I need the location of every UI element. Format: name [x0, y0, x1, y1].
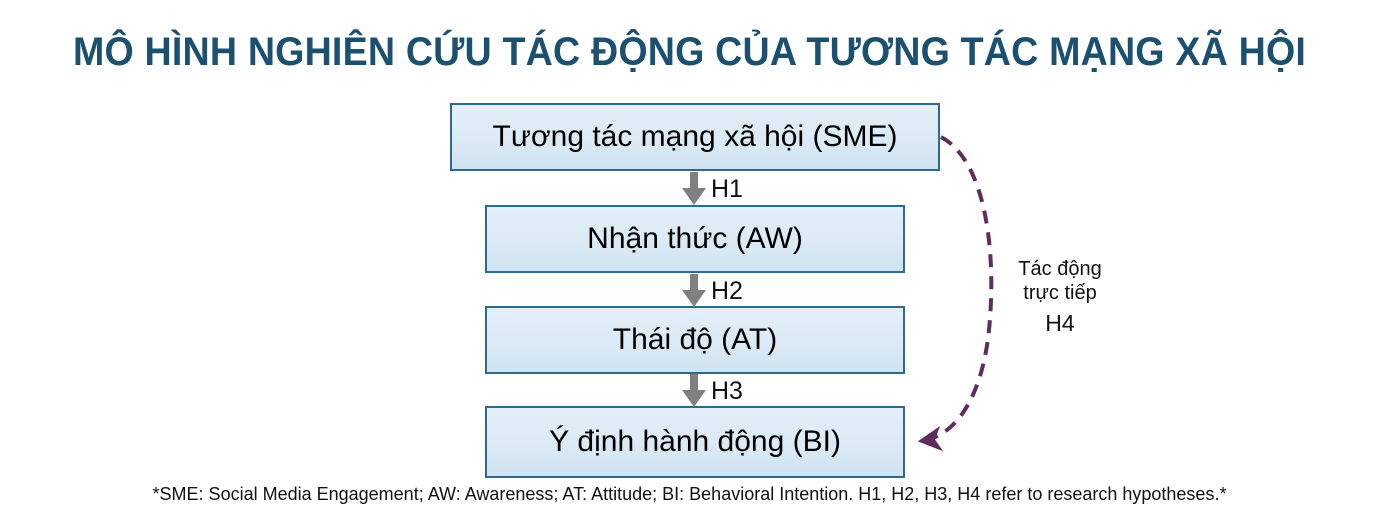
hypothesis-label-h1: H1	[711, 175, 743, 204]
hypothesis-label-h3: H3	[711, 377, 743, 406]
node-box-aw[interactable]: Nhận thức (AW)	[485, 205, 905, 273]
direct-effect-line1: Tác động	[1018, 258, 1101, 280]
hypothesis-label-h4: H4	[995, 311, 1125, 335]
down-arrow-icon-h1	[681, 172, 707, 206]
node-box-at[interactable]: Thái độ (AT)	[485, 306, 905, 374]
direct-effect-line2: trực tiếp	[1023, 282, 1096, 304]
down-arrow-icon-h3	[681, 374, 707, 408]
footnote-legend: *SME: Social Media Engagement; AW: Aware…	[0, 484, 1379, 505]
node-box-bi[interactable]: Ý định hành động (BI)	[485, 406, 905, 478]
node-label-bi: Ý định hành động (BI)	[549, 425, 841, 459]
down-arrow-icon-h2	[681, 274, 707, 308]
node-label-aw: Nhận thức (AW)	[587, 222, 803, 256]
node-label-sme: Tương tác mạng xã hội (SME)	[493, 120, 898, 154]
hypothesis-label-h2: H2	[711, 277, 743, 306]
direct-effect-annotation: Tác động trực tiếp H4	[995, 257, 1125, 335]
h4-direct-effect-arrow	[921, 137, 991, 441]
node-label-at: Thái độ (AT)	[613, 323, 778, 357]
node-box-sme[interactable]: Tương tác mạng xã hội (SME)	[450, 103, 940, 171]
